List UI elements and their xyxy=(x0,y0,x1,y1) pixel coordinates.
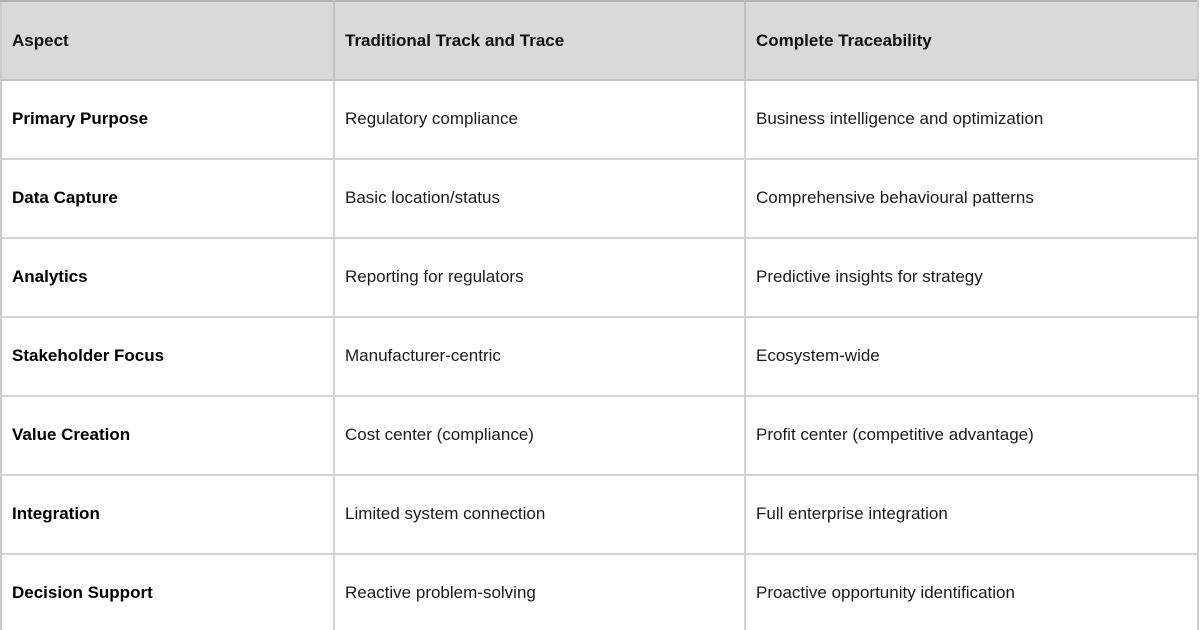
cell-aspect: Stakeholder Focus xyxy=(1,317,334,396)
table-header: Aspect Traditional Track and Trace Compl… xyxy=(1,1,1198,80)
column-header-complete-traceability: Complete Traceability xyxy=(745,1,1198,80)
cell-aspect: Value Creation xyxy=(1,396,334,475)
cell-aspect: Analytics xyxy=(1,238,334,317)
cell-aspect: Data Capture xyxy=(1,159,334,238)
cell-complete: Profit center (competitive advantage) xyxy=(745,396,1198,475)
comparison-table-container: Aspect Traditional Track and Trace Compl… xyxy=(0,0,1200,630)
cell-traditional: Reporting for regulators xyxy=(334,238,745,317)
cell-complete: Full enterprise integration xyxy=(745,475,1198,554)
table-body: Primary Purpose Regulatory compliance Bu… xyxy=(1,80,1198,630)
table-row: Decision Support Reactive problem-solvin… xyxy=(1,554,1198,630)
comparison-table: Aspect Traditional Track and Trace Compl… xyxy=(0,0,1199,630)
table-row: Stakeholder Focus Manufacturer-centric E… xyxy=(1,317,1198,396)
table-row: Analytics Reporting for regulators Predi… xyxy=(1,238,1198,317)
cell-traditional: Regulatory compliance xyxy=(334,80,745,159)
cell-aspect: Integration xyxy=(1,475,334,554)
cell-traditional: Manufacturer-centric xyxy=(334,317,745,396)
column-header-aspect: Aspect xyxy=(1,1,334,80)
table-row: Value Creation Cost center (compliance) … xyxy=(1,396,1198,475)
column-header-traditional-track-and-trace: Traditional Track and Trace xyxy=(334,1,745,80)
cell-traditional: Cost center (compliance) xyxy=(334,396,745,475)
cell-complete: Predictive insights for strategy xyxy=(745,238,1198,317)
cell-complete: Business intelligence and optimization xyxy=(745,80,1198,159)
table-row: Integration Limited system connection Fu… xyxy=(1,475,1198,554)
cell-traditional: Basic location/status xyxy=(334,159,745,238)
cell-traditional: Limited system connection xyxy=(334,475,745,554)
cell-aspect: Decision Support xyxy=(1,554,334,630)
table-row: Primary Purpose Regulatory compliance Bu… xyxy=(1,80,1198,159)
cell-complete: Ecosystem-wide xyxy=(745,317,1198,396)
cell-traditional: Reactive problem-solving xyxy=(334,554,745,630)
cell-aspect: Primary Purpose xyxy=(1,80,334,159)
table-header-row: Aspect Traditional Track and Trace Compl… xyxy=(1,1,1198,80)
cell-complete: Proactive opportunity identification xyxy=(745,554,1198,630)
cell-complete: Comprehensive behavioural patterns xyxy=(745,159,1198,238)
table-row: Data Capture Basic location/status Compr… xyxy=(1,159,1198,238)
